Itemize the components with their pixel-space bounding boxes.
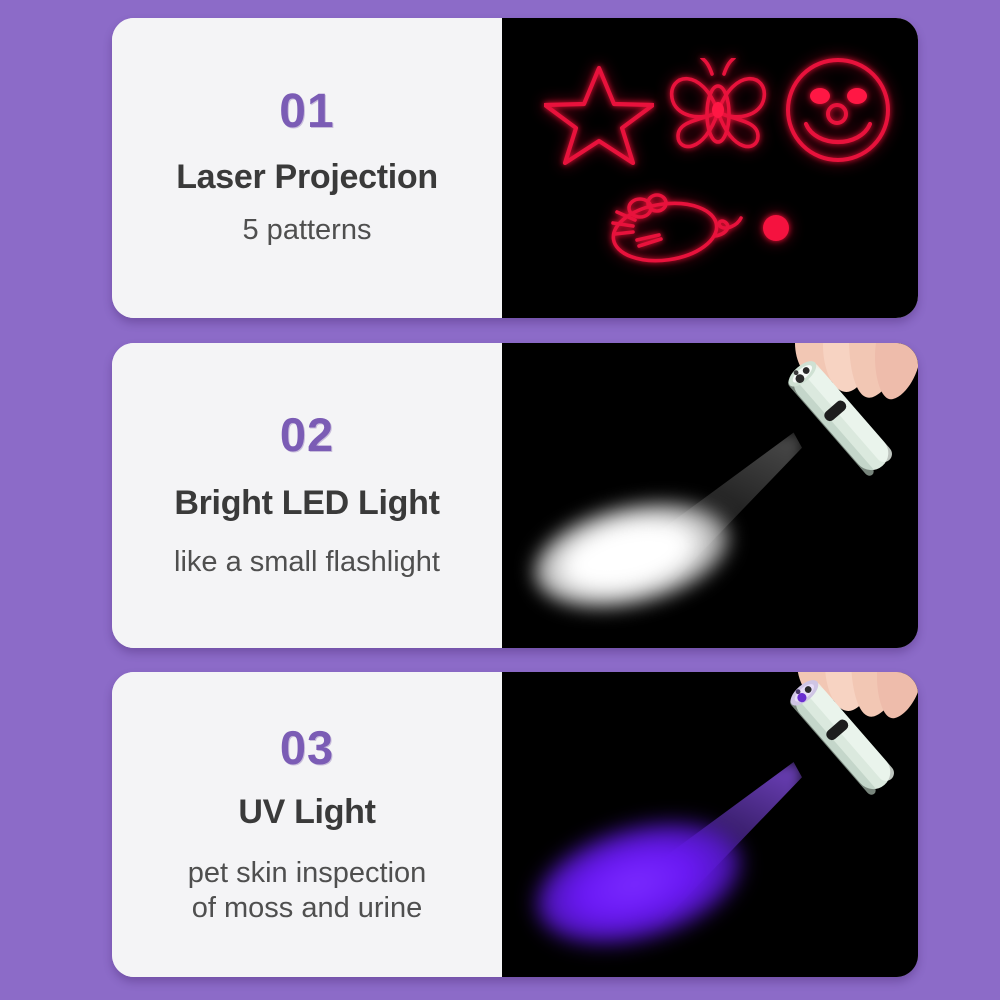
card-number: 03 bbox=[280, 724, 334, 771]
hand-holding-pen-light-icon bbox=[737, 343, 918, 487]
dot-pattern-icon bbox=[758, 210, 794, 246]
star-pattern-icon bbox=[544, 60, 654, 165]
feature-card-led-light[interactable]: 02 Bright LED Light like a small flashli… bbox=[112, 343, 918, 648]
feature-card-list: 01 Laser Projection 5 patterns bbox=[112, 18, 918, 977]
card-title: UV Light bbox=[238, 793, 375, 832]
card-text-panel: 03 UV Light pet skin inspection of moss … bbox=[112, 672, 502, 977]
card-text-panel: 02 Bright LED Light like a small flashli… bbox=[112, 343, 502, 648]
card-subtitle-line-1: pet skin inspection bbox=[188, 856, 427, 890]
card-subtitle: pet skin inspection of moss and urine bbox=[188, 856, 427, 924]
card-text-panel: 01 Laser Projection 5 patterns bbox=[112, 18, 502, 318]
card-title: Bright LED Light bbox=[174, 484, 439, 523]
card-subtitle-line-2: of moss and urine bbox=[188, 891, 427, 925]
led-beam-photo bbox=[502, 343, 918, 648]
card-title: Laser Projection bbox=[176, 158, 438, 197]
mouse-pattern-icon bbox=[597, 190, 747, 268]
smiley-pattern-icon bbox=[784, 56, 892, 164]
feature-card-uv-light[interactable]: 03 UV Light pet skin inspection of moss … bbox=[112, 672, 918, 977]
hand-holding-pen-light-icon bbox=[739, 672, 918, 806]
uv-beam-photo bbox=[502, 672, 918, 977]
card-number: 02 bbox=[280, 411, 334, 458]
card-subtitle: like a small flashlight bbox=[174, 545, 440, 579]
card-number: 01 bbox=[279, 88, 334, 136]
laser-pattern-board bbox=[502, 18, 918, 318]
butterfly-pattern-icon bbox=[662, 58, 774, 166]
card-subtitle: 5 patterns bbox=[243, 213, 372, 247]
feature-card-laser-projection[interactable]: 01 Laser Projection 5 patterns bbox=[112, 18, 918, 318]
